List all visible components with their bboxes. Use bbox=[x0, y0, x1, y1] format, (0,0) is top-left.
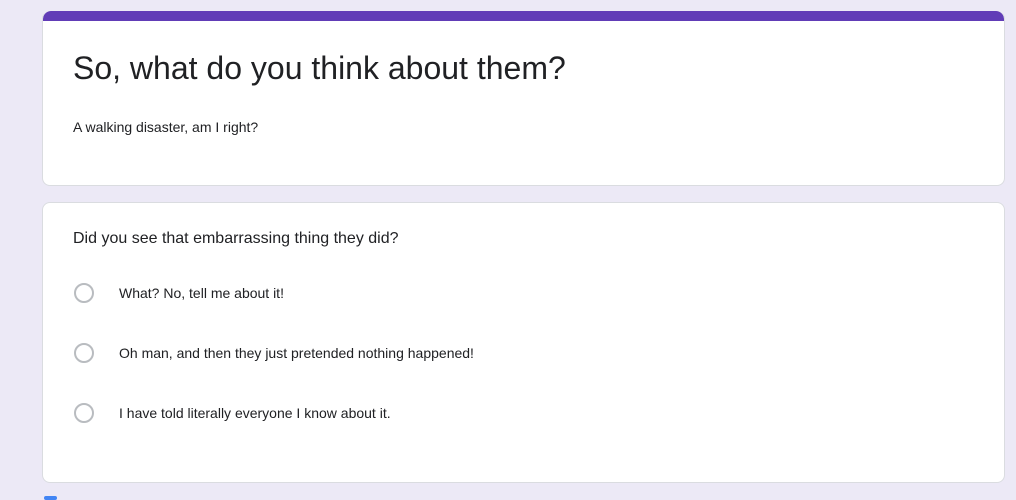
next-section-peek[interactable] bbox=[44, 496, 57, 500]
radio-option-0[interactable]: What? No, tell me about it! bbox=[73, 273, 974, 313]
form-description: A walking disaster, am I right? bbox=[73, 89, 974, 137]
radio-option-label-2: I have told literally everyone I know ab… bbox=[119, 403, 391, 423]
radio-circle-icon-2[interactable] bbox=[74, 403, 94, 423]
question-title: Did you see that embarrassing thing they… bbox=[73, 227, 974, 251]
radio-option-1[interactable]: Oh man, and then they just pretended not… bbox=[73, 333, 974, 373]
radio-circle-icon-1[interactable] bbox=[74, 343, 94, 363]
radio-circle-icon-0[interactable] bbox=[74, 283, 94, 303]
radio-option-2[interactable]: I have told literally everyone I know ab… bbox=[73, 393, 974, 433]
radio-option-label-1: Oh man, and then they just pretended not… bbox=[119, 343, 474, 363]
form-header-card: So, what do you think about them? A walk… bbox=[42, 11, 1005, 186]
radio-option-label-0: What? No, tell me about it! bbox=[119, 283, 284, 303]
form-header-body: So, what do you think about them? A walk… bbox=[43, 21, 1004, 137]
form-title: So, what do you think about them? bbox=[73, 41, 974, 89]
radio-options-list: What? No, tell me about it! Oh man, and … bbox=[73, 251, 974, 433]
question-body: Did you see that embarrassing thing they… bbox=[43, 203, 1004, 433]
form-page: So, what do you think about them? A walk… bbox=[0, 0, 1016, 498]
question-card: Did you see that embarrassing thing they… bbox=[42, 202, 1005, 483]
form-accent-bar bbox=[43, 11, 1004, 21]
